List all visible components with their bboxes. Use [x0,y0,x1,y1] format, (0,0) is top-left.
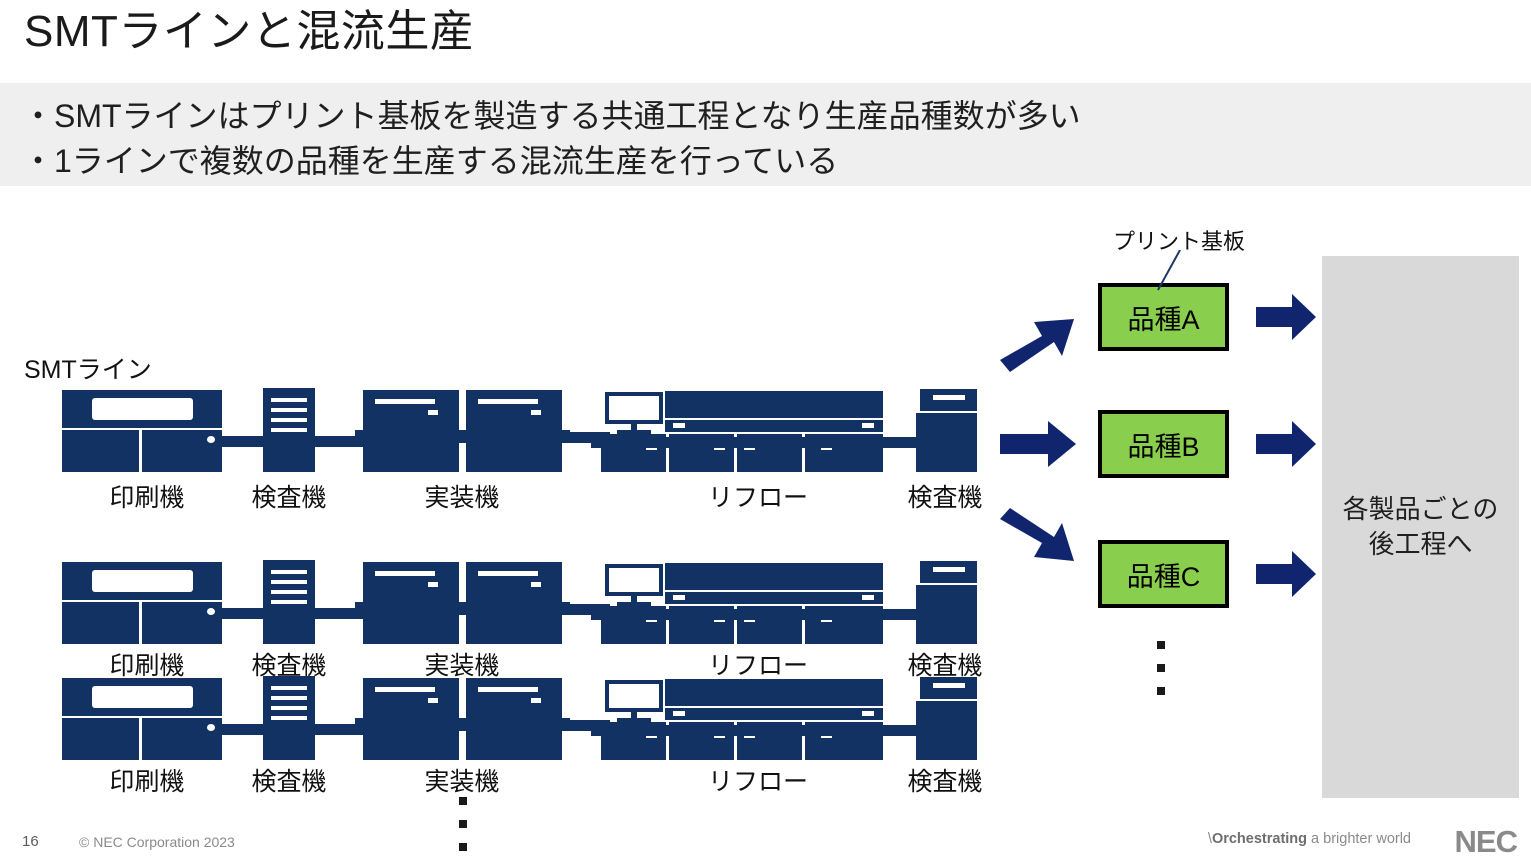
arrow-product-c-to-destination [1256,551,1316,597]
arrow-line-to-product-c [996,505,1080,571]
subtitle-band: ・SMTラインはプリント基板を製造する共通工程となり生産品種数が多い ・1ライン… [0,83,1531,186]
nec-tagline: \Orchestrating a brighter world [1208,831,1411,847]
label-mounter-3: 実装機 [417,762,507,798]
product-label-b: 品種B [1127,425,1199,464]
label-final-inspector-1: 検査機 [900,478,990,514]
dot [1157,641,1165,649]
page-title: SMTラインと混流生産 [24,6,474,59]
label-inspector-1: 検査機 [244,478,334,514]
product-box-b[interactable]: 品種B [1098,410,1229,478]
page-number: 16 [22,833,39,850]
copyright-notice: © NEC Corporation 2023 [79,834,235,850]
arrow-product-b-to-destination [1256,421,1316,467]
dot [1157,687,1165,695]
label-reflow-1: リフロー [703,478,813,514]
dot [459,797,467,805]
label-printer-3: 印刷機 [102,762,192,798]
destination-line-2: 後工程へ [1343,527,1499,562]
product-label-c: 品種C [1127,555,1201,594]
destination-line-1: 各製品ごとの [1343,492,1499,527]
label-mounter-1: 実装機 [417,478,507,514]
label-reflow-3: リフロー [703,762,813,798]
dot [1157,664,1165,672]
more-lines-indicator [459,797,467,862]
label-printer-1: 印刷機 [102,478,192,514]
label-mounter-2: 実装機 [417,646,507,682]
dot [459,843,467,851]
tagline-rest: a brighter world [1307,831,1411,847]
nec-logo: NEC [1455,824,1517,860]
arrow-line-to-product-a [996,310,1080,376]
arrow-line-to-product-b [1000,421,1076,467]
label-final-inspector-3: 検査機 [900,762,990,798]
arrow-product-a-to-destination [1256,294,1316,340]
smt-line-label: SMTライン [24,350,152,386]
destination-panel: 各製品ごとの 後工程へ [1322,256,1519,798]
tagline-bold: Orchestrating [1212,831,1307,847]
product-box-c[interactable]: 品種C [1098,540,1229,608]
slide-root: SMTラインと混流生産 ・SMTラインはプリント基板を製造する共通工程となり生産… [0,0,1531,862]
more-products-indicator [1157,641,1165,710]
subtitle-line-2: ・1ラインで複数の品種を生産する混流生産を行っている [22,145,838,177]
label-reflow-2: リフロー [703,646,813,682]
dot [459,820,467,828]
destination-text: 各製品ごとの 後工程へ [1343,492,1499,562]
callout-leader-line [1150,250,1190,297]
label-printer-2: 印刷機 [102,646,192,682]
label-inspector-3: 検査機 [244,762,334,798]
subtitle-line-1: ・SMTラインはプリント基板を製造する共通工程となり生産品種数が多い [22,100,1081,132]
product-label-a: 品種A [1127,298,1199,337]
